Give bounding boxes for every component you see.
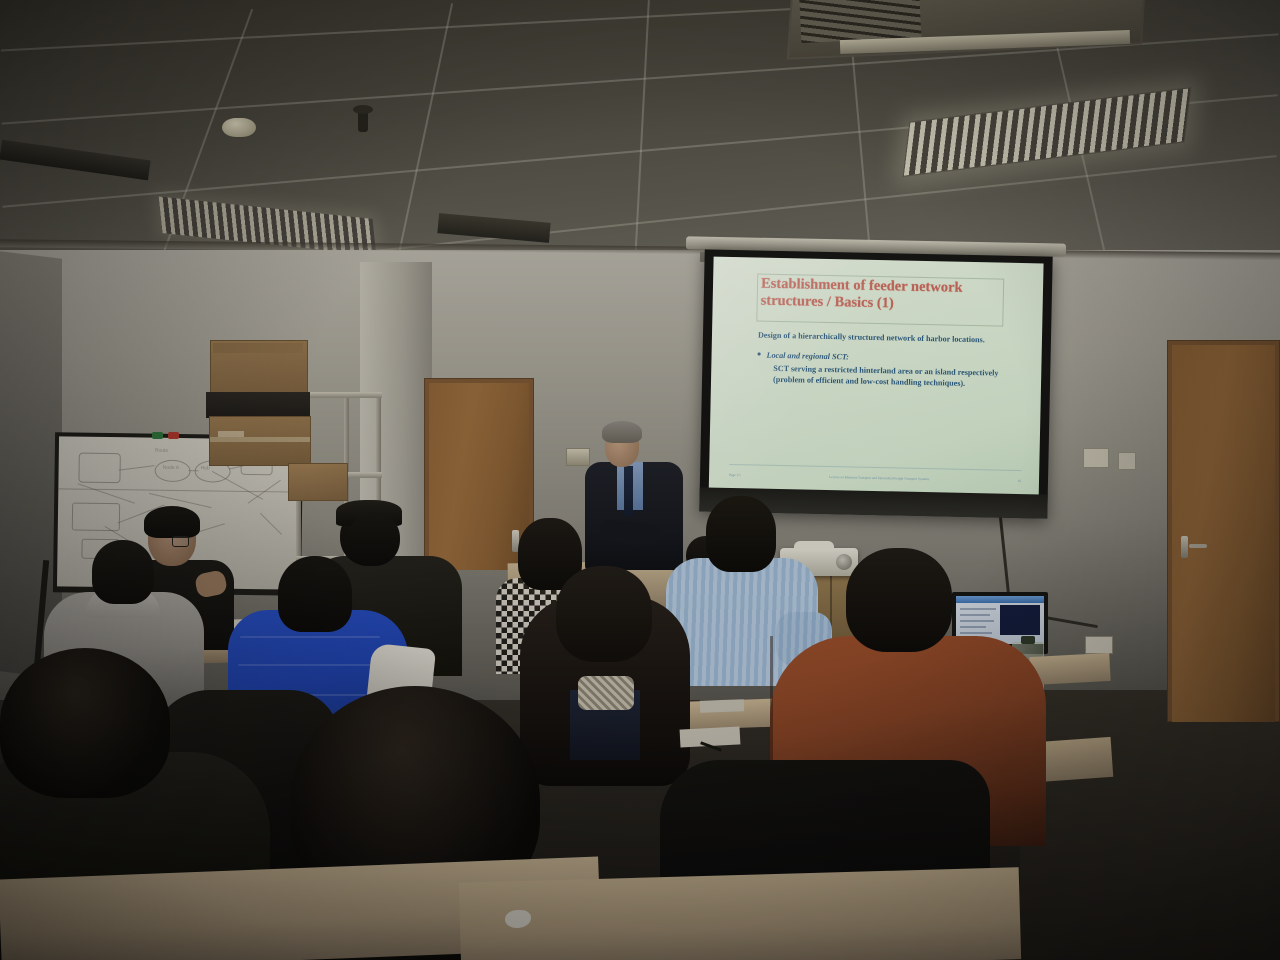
projector-top-cover	[794, 541, 834, 551]
smoke-detector-icon	[222, 118, 256, 137]
wall-switch-right[interactable]	[1083, 448, 1109, 468]
cardboard-box-right	[288, 463, 348, 501]
student-leather-jacket-head	[846, 548, 952, 652]
projection-screen: Establishment of feeder network structur…	[699, 249, 1052, 518]
door-right-lever[interactable]	[1189, 544, 1207, 548]
projected-slide: Establishment of feeder network structur…	[709, 257, 1044, 496]
slide-body: Design of a hierarchically structured ne…	[757, 330, 1020, 390]
sprinkler-head-icon	[358, 110, 368, 132]
door-right-handle[interactable]	[1181, 536, 1188, 558]
paper-sheet-2	[700, 699, 744, 713]
slide-body-line1: Design of a hierarchically structured ne…	[758, 330, 1020, 346]
whiteboard-marker-green[interactable]	[152, 432, 163, 439]
whiteboard-note-a: Node A	[163, 465, 179, 471]
door-right[interactable]	[1167, 340, 1280, 722]
eyeglasses-icon	[172, 536, 189, 547]
box-tape	[210, 437, 310, 442]
desk-front-right	[459, 867, 1021, 960]
desk-right-upper	[1029, 653, 1110, 685]
slide-footer-center: Lecture on Maritime Transport and Interm…	[741, 473, 1018, 483]
window-titlebar[interactable]	[956, 596, 1044, 603]
bottle-cap	[1021, 636, 1035, 644]
student-long-hair-head	[556, 566, 652, 662]
lecture-room-photo: Establishment of feeder network structur…	[0, 0, 1280, 960]
shelf-dark-item	[206, 392, 310, 418]
wall-switch-right-2[interactable]	[1118, 452, 1136, 470]
door-right-leaf[interactable]	[1172, 345, 1275, 722]
student-glasses-hair	[144, 506, 200, 538]
whiteboard-marker-red[interactable]	[168, 432, 179, 439]
student-back-head	[348, 512, 400, 566]
door-left[interactable]	[424, 378, 534, 570]
presenter-tie	[624, 466, 633, 516]
slide-footer-left: Page 1/1	[729, 473, 741, 478]
slide-footer-rule	[729, 464, 1021, 471]
student-scarf	[578, 676, 634, 710]
bullet-dot-icon	[758, 353, 761, 356]
window-panel[interactable]	[1000, 605, 1040, 635]
cardboard-box-lid	[213, 343, 303, 353]
slide-footer: Page 1/1 Lecture on Maritime Transport a…	[729, 473, 1021, 484]
student-striped-shirt-head	[706, 496, 776, 572]
presenter-hair	[602, 421, 642, 443]
floor-right	[1020, 690, 1280, 960]
ceiling-vent-left	[0, 140, 151, 181]
power-outlet[interactable]	[1085, 636, 1113, 654]
student-grey-hoodie-head	[92, 540, 154, 604]
box-label	[218, 431, 244, 437]
slide-page-number: 16	[1018, 479, 1021, 483]
cardboard-box-lower	[209, 416, 311, 466]
wall-switch-left[interactable]	[566, 448, 590, 466]
student-foreground-left-head	[0, 648, 170, 798]
slide-bullet: Local and regional SCT: SCT serving a re…	[757, 350, 1020, 390]
whiteboard-note-b: Hub	[201, 465, 210, 471]
whiteboard-note-c: Route	[155, 448, 168, 454]
ceiling-light-right	[903, 87, 1192, 177]
air-conditioner-vent	[799, 0, 922, 43]
projector-lens-icon	[836, 554, 852, 570]
cardboard-box-top	[210, 340, 308, 394]
slide-title: Establishment of feeder network structur…	[761, 276, 1008, 314]
slide-bullet-body: SCT serving a restricted hinterland area…	[773, 363, 1019, 390]
student-blue-vest-head	[278, 556, 352, 632]
